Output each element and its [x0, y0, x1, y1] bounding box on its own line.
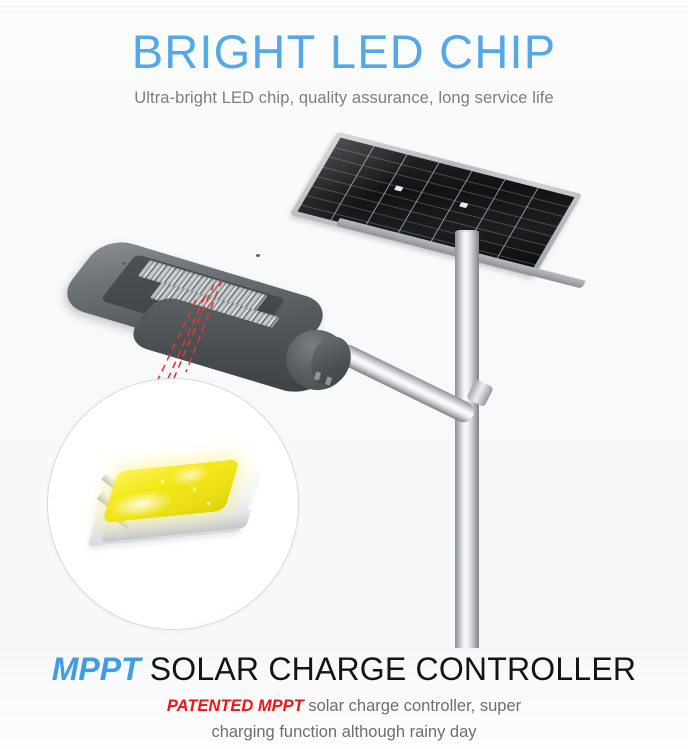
- mppt-controller-section: MPPT SOLAR CHARGE CONTROLLER PATENTED MP…: [0, 648, 688, 749]
- mppt-title-highlight: MPPT: [52, 651, 141, 687]
- lamp-screw-right: [256, 254, 260, 257]
- led-sparkle-3: [146, 501, 151, 506]
- light-pole: [455, 232, 479, 648]
- page-subtitle: Ultra-bright LED chip, quality assurance…: [0, 87, 688, 109]
- mppt-description-highlight: PATENTED MPPT: [167, 697, 304, 715]
- solar-panel: [330, 128, 592, 246]
- mppt-title-rest: SOLAR CHARGE CONTROLLER: [141, 651, 637, 687]
- mppt-description-line-1: PATENTED MPPT solar charge controller, s…: [0, 694, 688, 718]
- magnifier-circle: [47, 378, 299, 630]
- smd-led-chip: [96, 457, 252, 549]
- mppt-description-line-2: charging function although rainy day: [0, 720, 688, 744]
- top-divider-secondary: [0, 12, 688, 13]
- top-divider: [0, 6, 688, 7]
- led-sparkle-2: [192, 487, 197, 492]
- mppt-title: MPPT SOLAR CHARGE CONTROLLER: [0, 648, 688, 690]
- lamp-screw-left: [122, 262, 126, 265]
- bright-led-chip-section: BRIGHT LED CHIP Ultra-bright LED chip, q…: [0, 0, 688, 648]
- led-sparkle-4: [206, 501, 211, 506]
- page-title: BRIGHT LED CHIP: [0, 24, 688, 80]
- led-sparkle-1: [160, 479, 165, 484]
- product-banner: BRIGHT LED CHIP Ultra-bright LED chip, q…: [0, 0, 688, 749]
- mppt-description-rest: solar charge controller, super: [304, 697, 521, 715]
